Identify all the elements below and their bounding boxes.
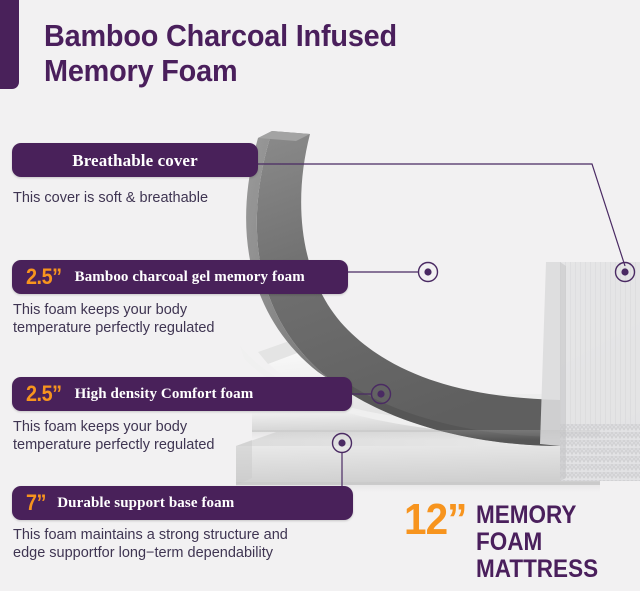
layer-description-bamboo-charcoal-gel-memory-foam: This foam keeps your body temperature pe…	[13, 302, 313, 337]
layer-thickness-value: 2.5”	[26, 383, 62, 405]
layer-description-high-density-comfort-foam: This foam keeps your body temperature pe…	[13, 419, 313, 454]
layer-badge-breathable-cover[interactable]: Breathable cover	[12, 143, 258, 177]
layer-badge-durable-support-base-foam[interactable]: 7” Durable support base foam	[12, 486, 353, 520]
layer-description-breathable-cover: This cover is soft & breathable	[13, 190, 313, 208]
infographic-canvas: Bamboo Charcoal Infused Memory Foam Brea…	[0, 0, 640, 591]
layer-badge-label: Bamboo charcoal gel memory foam	[75, 270, 305, 285]
layer-thickness-value: 2.5”	[26, 266, 62, 288]
layer-badge-bamboo-charcoal-gel-memory-foam[interactable]: 2.5” Bamboo charcoal gel memory foam	[12, 260, 348, 294]
mattress-total-height: 12”	[404, 500, 467, 540]
mattress-product-name: MEMORY FOAM MATTRESS	[476, 500, 624, 583]
mattress-size-lockup: 12” MEMORY FOAM MATTRESS	[404, 500, 640, 583]
left-accent-bar	[0, 0, 19, 89]
callout-dots	[333, 263, 635, 453]
layer-badge-label: High density Comfort foam	[75, 387, 254, 402]
layer-description-durable-support-base-foam: This foam maintains a strong structure a…	[13, 527, 343, 562]
layer-thickness-value: 7”	[26, 492, 46, 514]
page-title: Bamboo Charcoal Infused Memory Foam	[44, 19, 481, 88]
layer-badge-label: Durable support base foam	[57, 496, 234, 511]
layer-badge-high-density-comfort-foam[interactable]: 2.5” High density Comfort foam	[12, 377, 352, 411]
layer-badge-label: Breathable cover	[72, 152, 197, 169]
